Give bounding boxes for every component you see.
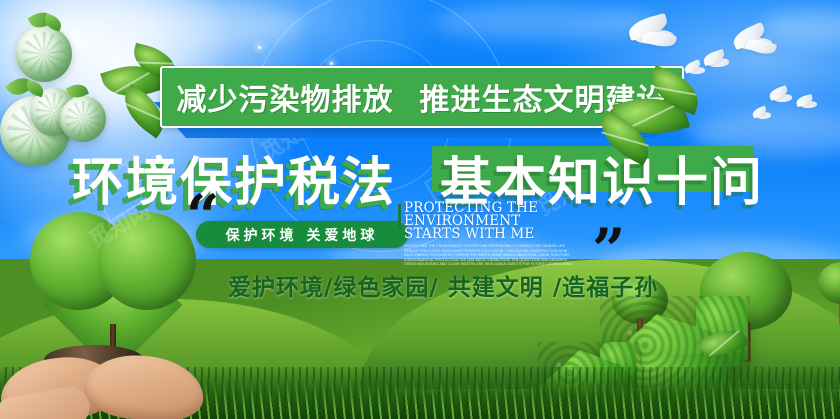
- sparkle: [330, 62, 333, 65]
- tree: [818, 262, 840, 304]
- eco-globe-icon: [16, 26, 72, 82]
- eco-globe-icon: [60, 96, 106, 142]
- dove-icon: [730, 28, 782, 58]
- dove-icon: [796, 96, 822, 112]
- english-slogan-line-one: PROTECTING THE ENVIRONMENT: [404, 202, 602, 228]
- slogan-badge-label: 保护环境 关爱地球: [226, 225, 379, 245]
- dove-icon: [684, 62, 710, 78]
- accent-bar: [398, 204, 401, 230]
- page-title-part-one: 环境保护税法: [72, 140, 396, 215]
- english-slogan-block: PROTECTING THE ENVIRONMENT STARTS WITH M…: [404, 202, 602, 267]
- sparkle: [258, 46, 261, 49]
- dove-icon: [624, 18, 684, 52]
- dove-icon: [768, 88, 798, 106]
- heart-shaped-tree: [28, 212, 198, 342]
- cloud: [120, 6, 300, 48]
- english-slogan-line-two: STARTS WITH ME: [404, 228, 602, 241]
- headline-banner: 减少污染物排放 推进生态文明建设: [160, 66, 680, 124]
- micro-text-block: PROTECTING THE ENVIRONMENT IS EVERYONE R…: [404, 244, 602, 267]
- dove-icon: [752, 108, 776, 122]
- banner-text-left: 减少污染物排放: [177, 75, 394, 119]
- environmental-poster: 觅知网 觅知网 觅知网 觅知网 觅知网 减少污染物排放 推进生态文明建设 环境保…: [0, 0, 840, 419]
- slogan-badge: 保护环境 关爱地球: [196, 221, 408, 248]
- tagline: 爱护环境/绿色家园/ 共建文明 /造福子孙: [228, 268, 658, 302]
- micro-text-line: GREEN MOUNTAINS AND CLEAR WATERS ARE INV…: [404, 262, 602, 267]
